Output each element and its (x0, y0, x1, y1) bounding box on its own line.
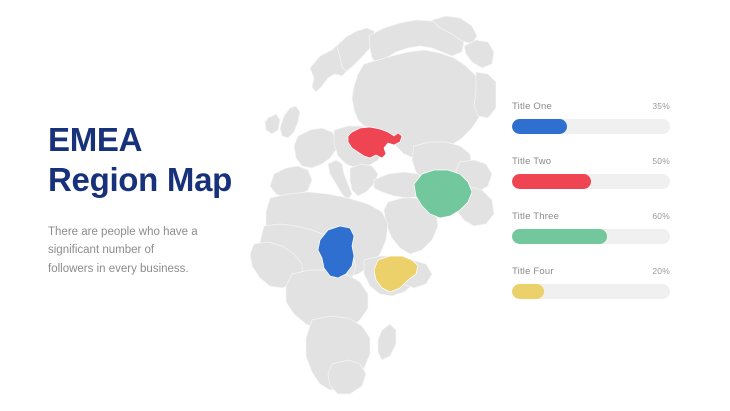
legend-value: 20% (652, 266, 670, 276)
progress-track[interactable] (512, 284, 670, 299)
progress-track[interactable] (512, 174, 670, 189)
progress-track[interactable] (512, 119, 670, 134)
legend-row[interactable]: Title Three 60% (512, 211, 670, 244)
legend-header: Title Three 60% (512, 211, 670, 222)
map-svg (236, 12, 496, 407)
legend-row[interactable]: Title Two 50% (512, 156, 670, 189)
progress-fill (512, 119, 567, 134)
emea-map (236, 12, 496, 407)
slide-description: There are people who have a significant … (48, 201, 198, 279)
legend-header: Title Four 20% (512, 266, 670, 277)
legend-label: Title Two (512, 156, 551, 167)
legend-progress-list: Title One 35% Title Two 50% Title Three … (512, 101, 670, 299)
legend-value: 50% (652, 156, 670, 166)
progress-fill (512, 284, 544, 299)
slide-canvas: EMEA Region Map There are people who hav… (0, 0, 730, 411)
progress-fill (512, 229, 607, 244)
legend-row[interactable]: Title One 35% (512, 101, 670, 134)
progress-track[interactable] (512, 229, 670, 244)
page-title: EMEA Region Map (48, 120, 248, 201)
legend-header: Title One 35% (512, 101, 670, 112)
legend-label: Title One (512, 101, 552, 112)
legend-label: Title Four (512, 266, 554, 277)
legend-value: 60% (652, 211, 670, 221)
legend-header: Title Two 50% (512, 156, 670, 167)
text-panel: EMEA Region Map There are people who hav… (48, 120, 248, 278)
legend-row[interactable]: Title Four 20% (512, 266, 670, 299)
legend-value: 35% (652, 101, 670, 111)
legend-label: Title Three (512, 211, 559, 222)
progress-fill (512, 174, 591, 189)
